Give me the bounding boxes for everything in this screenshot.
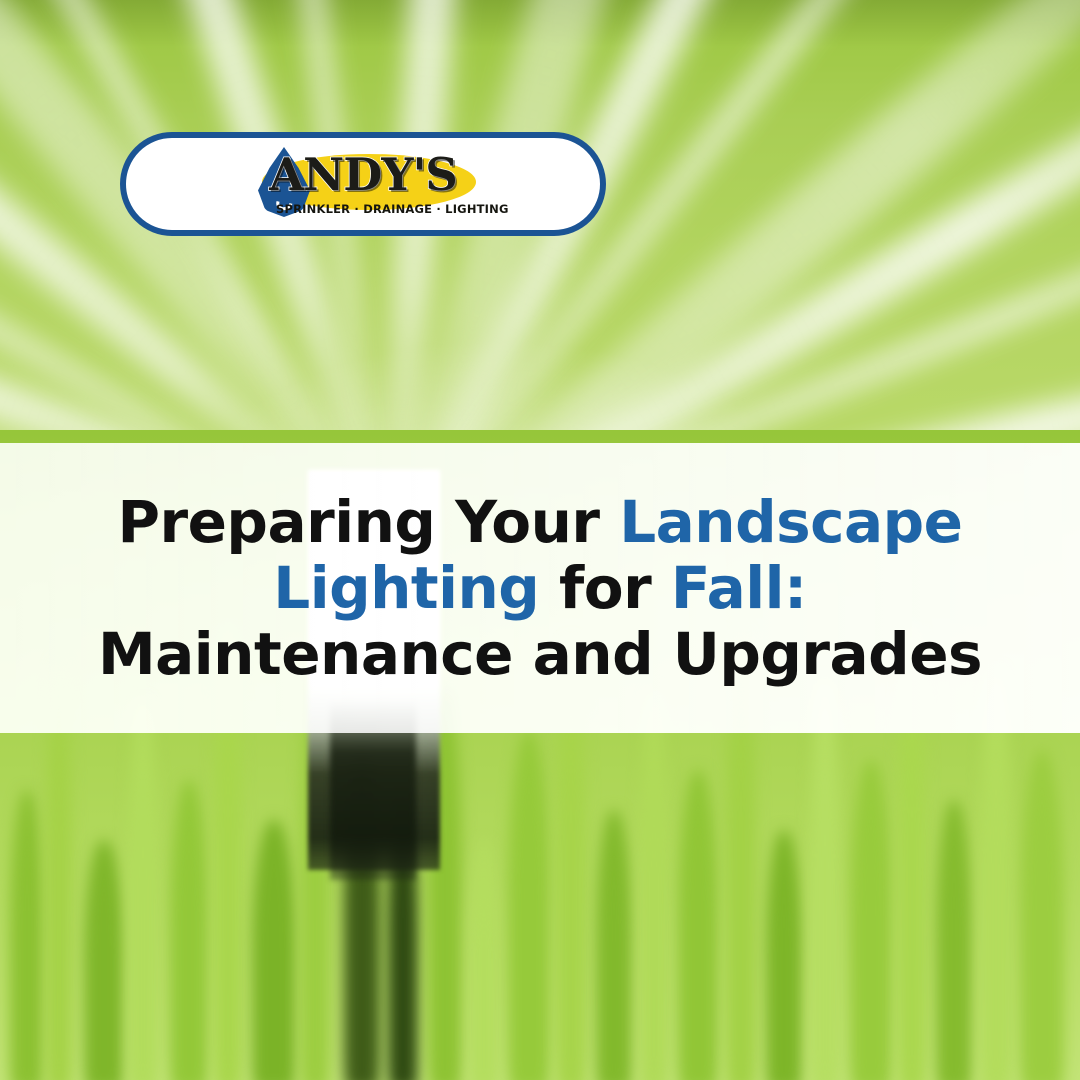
headline-line2-highlight-1: Lighting (273, 554, 539, 622)
logo-tagline: SPRINKLER · DRAINAGE · LIGHTING (276, 202, 488, 216)
brand-logo-badge[interactable]: ANDY'S SPRINKLER · DRAINAGE · LIGHTING (120, 132, 606, 236)
headline-block: Preparing Your Landscape Lighting for Fa… (0, 443, 1080, 733)
headline-line1-highlight: Landscape (619, 488, 962, 556)
headline-line1-plain: Preparing Your (117, 488, 619, 556)
logo-wordmark: ANDY'S (238, 145, 488, 203)
headline-line-1: Preparing Your Landscape (117, 489, 962, 555)
andys-logo: ANDY'S SPRINKLER · DRAINAGE · LIGHTING (238, 145, 488, 223)
social-graphic-canvas: ANDY'S SPRINKLER · DRAINAGE · LIGHTING P… (0, 0, 1080, 1080)
headline-line-3: Maintenance and Upgrades (98, 621, 982, 687)
headline-line2-highlight-2: Fall: (671, 554, 807, 622)
headline-line-2: Lighting for Fall: (273, 555, 806, 621)
headline-line2-plain: for (539, 554, 671, 622)
